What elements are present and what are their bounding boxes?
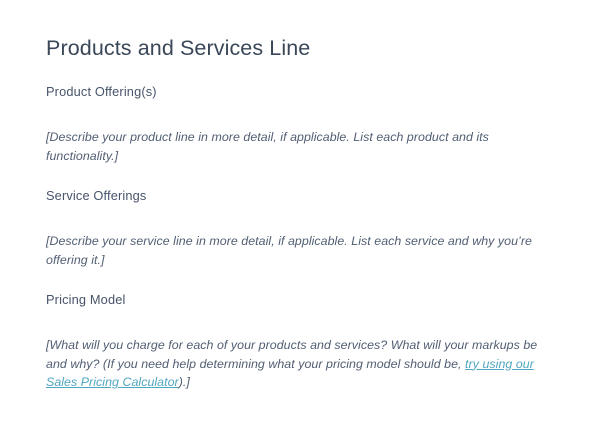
pricing-body-text-before-link: [What will you charge for each of your p… bbox=[46, 338, 537, 371]
section-body-product-offerings: [Describe your product line in more deta… bbox=[46, 128, 542, 165]
section-product-offerings: Product Offering(s) [Describe your produ… bbox=[46, 84, 558, 165]
section-service-offerings: Service Offerings [Describe your service… bbox=[46, 188, 558, 269]
section-body-pricing-model: [What will you charge for each of your p… bbox=[46, 336, 560, 392]
document-page: Products and Services Line Product Offer… bbox=[0, 0, 600, 421]
page-title: Products and Services Line bbox=[46, 34, 310, 62]
section-heading-service-offerings: Service Offerings bbox=[46, 188, 558, 204]
section-pricing-model: Pricing Model [What will you charge for … bbox=[46, 292, 558, 392]
section-heading-product-offerings: Product Offering(s) bbox=[46, 84, 558, 100]
section-body-service-offerings: [Describe your service line in more deta… bbox=[46, 232, 542, 269]
section-heading-pricing-model: Pricing Model bbox=[46, 292, 558, 308]
pricing-body-text-after-link: ).] bbox=[179, 375, 190, 389]
